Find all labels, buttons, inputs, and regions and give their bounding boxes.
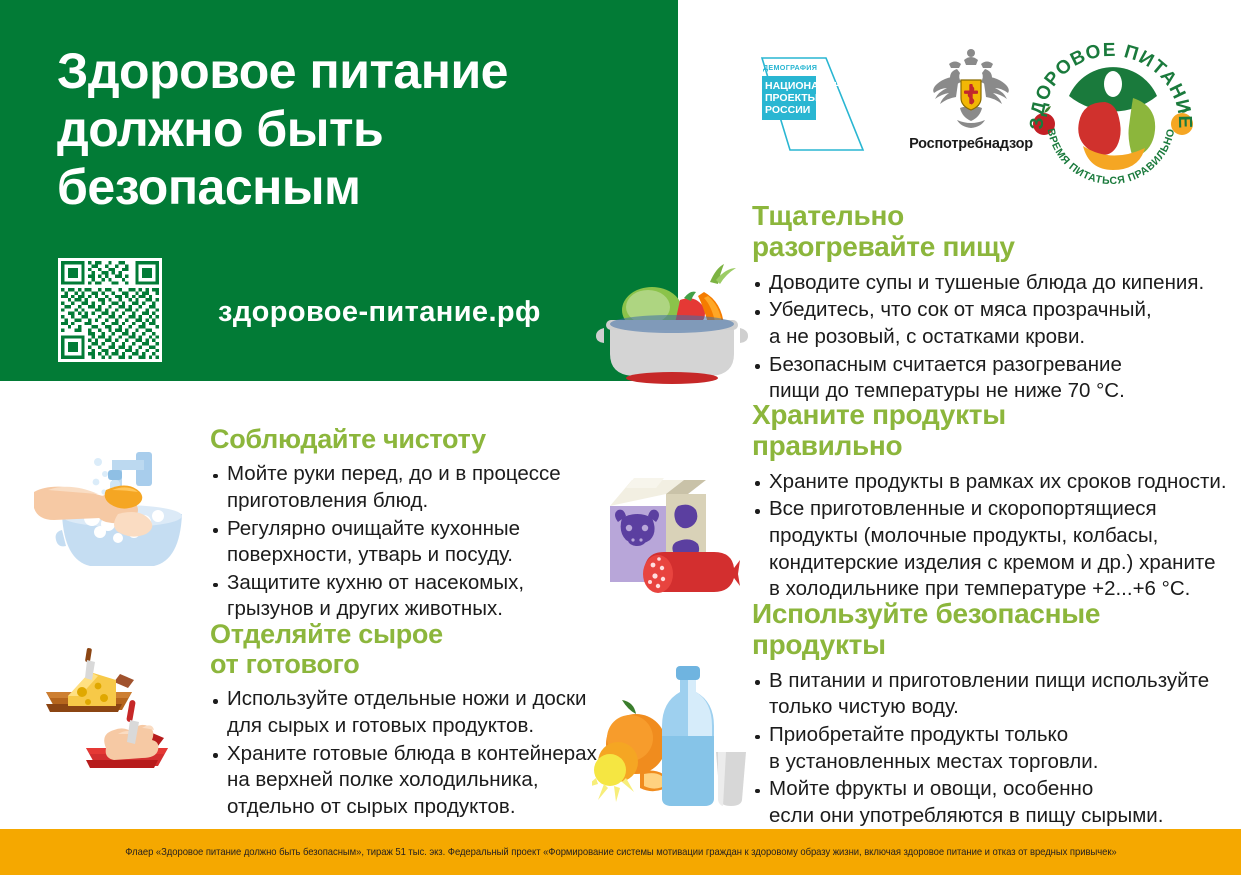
section-store-heading-line-1: Храните продукты <box>752 399 1232 430</box>
water-bottle-and-fruit-illustration <box>592 666 750 806</box>
list-item: Доводите супы и тушеные блюда до кипения… <box>752 270 1232 297</box>
section-clean-heading: Соблюдайте чистоту <box>210 424 580 454</box>
svg-text:РОССИИ: РОССИИ <box>765 104 810 116</box>
section-reheat-bullets: Доводите супы и тушеные блюда до кипения… <box>752 270 1232 405</box>
section-safe-heading-line-1: Используйте безопасные <box>752 598 1232 629</box>
washing-hands-illustration <box>34 452 202 592</box>
list-item: Безопасным считается разогревание пищи д… <box>752 352 1232 405</box>
section-separate-heading: Отделяйте сырое от готового <box>210 619 610 679</box>
section-separate-heading-line-1: Отделяйте сырое <box>210 619 610 649</box>
section-clean-bullets: Мойте руки перед, до и в процессе пригот… <box>210 461 580 623</box>
section-safe-bullets: В питании и приготовлении пищи используй… <box>752 668 1232 830</box>
qr-code[interactable] <box>58 258 162 362</box>
list-item: Храните готовые блюда в контейнерах на в… <box>210 741 610 821</box>
section-reheat-heading-line-2: разогревайте пищу <box>752 231 1232 262</box>
list-item: Используйте отдельные ножи и доски для с… <box>210 686 610 739</box>
list-item: Убедитесь, что сок от мяса прозрачный, а… <box>752 297 1232 350</box>
svg-text:ДЕМОГРАФИЯ: ДЕМОГРАФИЯ <box>763 63 817 72</box>
svg-text:НАЦИОНАЛЬНЫЕ: НАЦИОНАЛЬНЫЕ <box>765 80 859 92</box>
page-title-line-1: Здоровое питание <box>57 42 667 100</box>
section-separate-bullets: Используйте отдельные ножи и доски для с… <box>210 686 610 820</box>
section-clean: Соблюдайте чистоту Мойте руки перед, до … <box>210 424 580 624</box>
page-title: Здоровое питание должно быть безопасным <box>57 42 667 216</box>
footer-bar: Флаер «Здоровое питание должно быть безо… <box>0 829 1241 875</box>
list-item: Все приготовленные и скоропортящиеся про… <box>752 496 1232 603</box>
website-url[interactable]: здоровое-питание.рф <box>218 296 541 329</box>
logo-row: ДЕМОГРАФИЯ НАЦИОНАЛЬНЫЕ ПРОЕКТЫ РОССИИ <box>760 28 1230 188</box>
section-store: Храните продукты правильно Храните проду… <box>752 399 1232 604</box>
section-separate-heading-line-2: от готового <box>210 649 610 679</box>
section-store-bullets: Храните продукты в рамках их сроков годн… <box>752 469 1232 603</box>
list-item: Регулярно очищайте кухонные поверхности,… <box>210 516 580 569</box>
list-item: Храните продукты в рамках их сроков годн… <box>752 469 1232 496</box>
section-store-heading-line-2: правильно <box>752 430 1232 461</box>
cooking-pot-with-vegetables-illustration <box>592 252 752 388</box>
list-item: Мойте руки перед, до и в процессе пригот… <box>210 461 580 514</box>
section-reheat: Тщательно разогревайте пищу Доводите суп… <box>752 200 1232 406</box>
svg-text:ПРОЕКТЫ: ПРОЕКТЫ <box>765 92 818 104</box>
list-item: Приобретайте продукты только в установле… <box>752 722 1232 775</box>
section-safe-heading-line-2: продукты <box>752 629 1232 660</box>
dairy-and-sausage-illustration <box>600 462 750 602</box>
hero-panel: Здоровое питание должно быть безопасным <box>0 0 678 381</box>
page-title-line-3: безопасным <box>57 158 667 216</box>
footer-text: Флаер «Здоровое питание должно быть безо… <box>125 847 1116 858</box>
section-reheat-heading-line-1: Тщательно <box>752 200 1232 231</box>
national-projects-logo: ДЕМОГРАФИЯ НАЦИОНАЛЬНЫЕ ПРОЕКТЫ РОССИИ <box>760 54 865 154</box>
page-title-line-2: должно быть <box>57 100 667 158</box>
section-store-heading: Храните продукты правильно <box>752 399 1232 462</box>
section-safe-heading: Используйте безопасные продукты <box>752 598 1232 661</box>
section-safe: Используйте безопасные продукты В питани… <box>752 598 1232 831</box>
healthy-eating-logo: ЗДОРОВОЕ ПИТАНИЕ ВРЕМЯ ПИТАТЬСЯ ПРАВИЛЬН… <box>1013 28 1213 188</box>
list-item: Защитите кухню от насекомых, грызунов и … <box>210 570 580 623</box>
double-headed-eagle-icon <box>923 46 1019 134</box>
poster-root: Здоровое питание должно быть безопасным <box>0 0 1241 875</box>
section-separate: Отделяйте сырое от готового Используйте … <box>210 619 610 822</box>
section-reheat-heading: Тщательно разогревайте пищу <box>752 200 1232 263</box>
list-item: В питании и приготовлении пищи используй… <box>752 668 1232 721</box>
list-item: Мойте фрукты и овощи, особенно если они … <box>752 776 1232 829</box>
section-clean-heading-line-1: Соблюдайте чистоту <box>210 424 580 454</box>
cutting-boards-illustration <box>24 648 200 798</box>
